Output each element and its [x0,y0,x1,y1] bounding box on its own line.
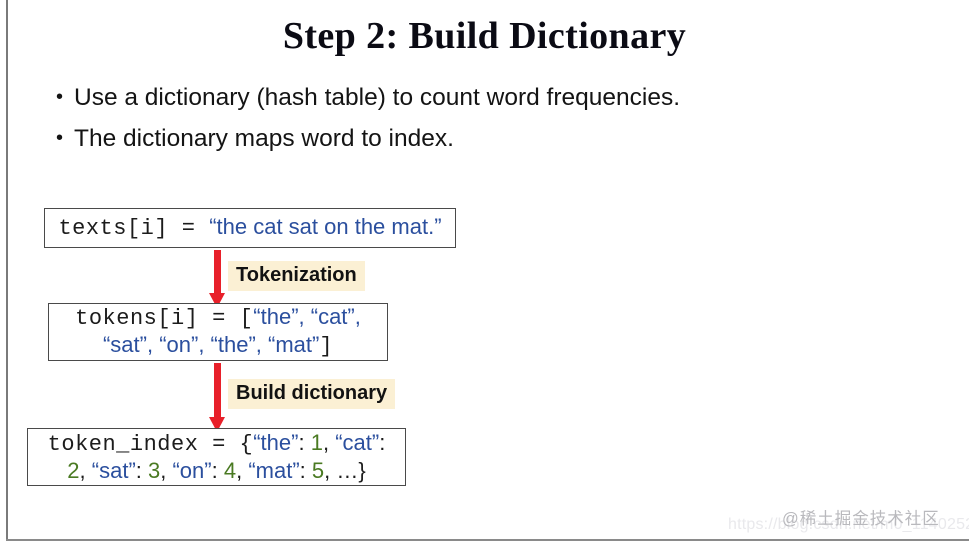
list-item: • The dictionary maps word to index. [56,127,796,152]
dict-separator: : [379,430,385,455]
page-title: Step 2: Build Dictionary [0,14,969,58]
code-variable-texts: texts[i] = [58,216,209,241]
code-bracket-close: ] [319,334,333,359]
dict-comma: , [80,458,92,483]
dict-tail: , …} [324,458,366,483]
arrow-label-tokenization: Tokenization [228,261,365,291]
slide-canvas: Step 2: Build Dictionary • Use a diction… [0,0,969,547]
watermark-brand: @稀土掘金技术社区 [782,505,940,529]
code-box-texts: texts[i] = “the cat sat on the mat.” [44,208,456,248]
dict-separator: : [212,458,224,483]
arrow-shaft [214,250,221,294]
arrow-down-tokenization-icon [209,250,226,308]
dict-value-1: 1 [311,430,323,455]
slide-left-border [6,0,8,541]
slide-bottom-border [6,539,969,541]
code-line: tokens[i] = [“the”, “cat”, [75,304,361,332]
dict-key-on: “on” [172,458,211,483]
dict-key-cat: “cat” [335,430,379,455]
arrow-down-build-dictionary-icon [209,363,226,433]
bullet-dot-icon: • [56,86,74,109]
list-item: • Use a dictionary (hash table) to count… [56,86,796,111]
code-line: 2, “sat”: 3, “on”: 4, “mat”: 5, …} [67,458,365,484]
code-line: “sat”, “on”, “the”, “mat”] [103,332,333,360]
dict-value-2: 2 [67,458,79,483]
code-box-token-index: token_index = {“the”: 1, “cat”: 2, “sat”… [27,428,406,486]
code-variable-token-index: token_index = { [48,432,254,457]
code-string-sentence: “the cat sat on the mat.” [209,214,441,239]
code-string-tokens-line2: “sat”, “on”, “the”, “mat” [103,332,319,357]
dict-comma: , [236,458,248,483]
dict-comma: , [160,458,172,483]
dict-separator: : [300,458,312,483]
arrow-shaft [214,363,221,418]
bullet-list: • Use a dictionary (hash table) to count… [56,86,796,167]
arrow-label-build-dictionary: Build dictionary [228,379,395,409]
dict-value-4: 4 [224,458,236,483]
dict-comma: , [323,430,335,455]
dict-value-5: 5 [312,458,324,483]
code-variable-tokens: tokens[i] = [ [75,306,253,331]
dict-separator: : [136,458,148,483]
dict-key-sat: “sat” [92,458,136,483]
dict-key-the: “the” [253,430,298,455]
dict-value-3: 3 [148,458,160,483]
dict-separator: : [298,430,310,455]
bullet-text: Use a dictionary (hash table) to count w… [74,86,680,111]
bullet-dot-icon: • [56,127,74,150]
code-box-tokens: tokens[i] = [“the”, “cat”, “sat”, “on”, … [48,303,388,361]
code-string-tokens-line1: “the”, “cat”, [253,304,361,329]
dict-key-mat: “mat” [248,458,299,483]
code-line: token_index = {“the”: 1, “cat”: [48,430,386,458]
code-line: texts[i] = “the cat sat on the mat.” [58,214,441,242]
bullet-text: The dictionary maps word to index. [74,127,454,152]
